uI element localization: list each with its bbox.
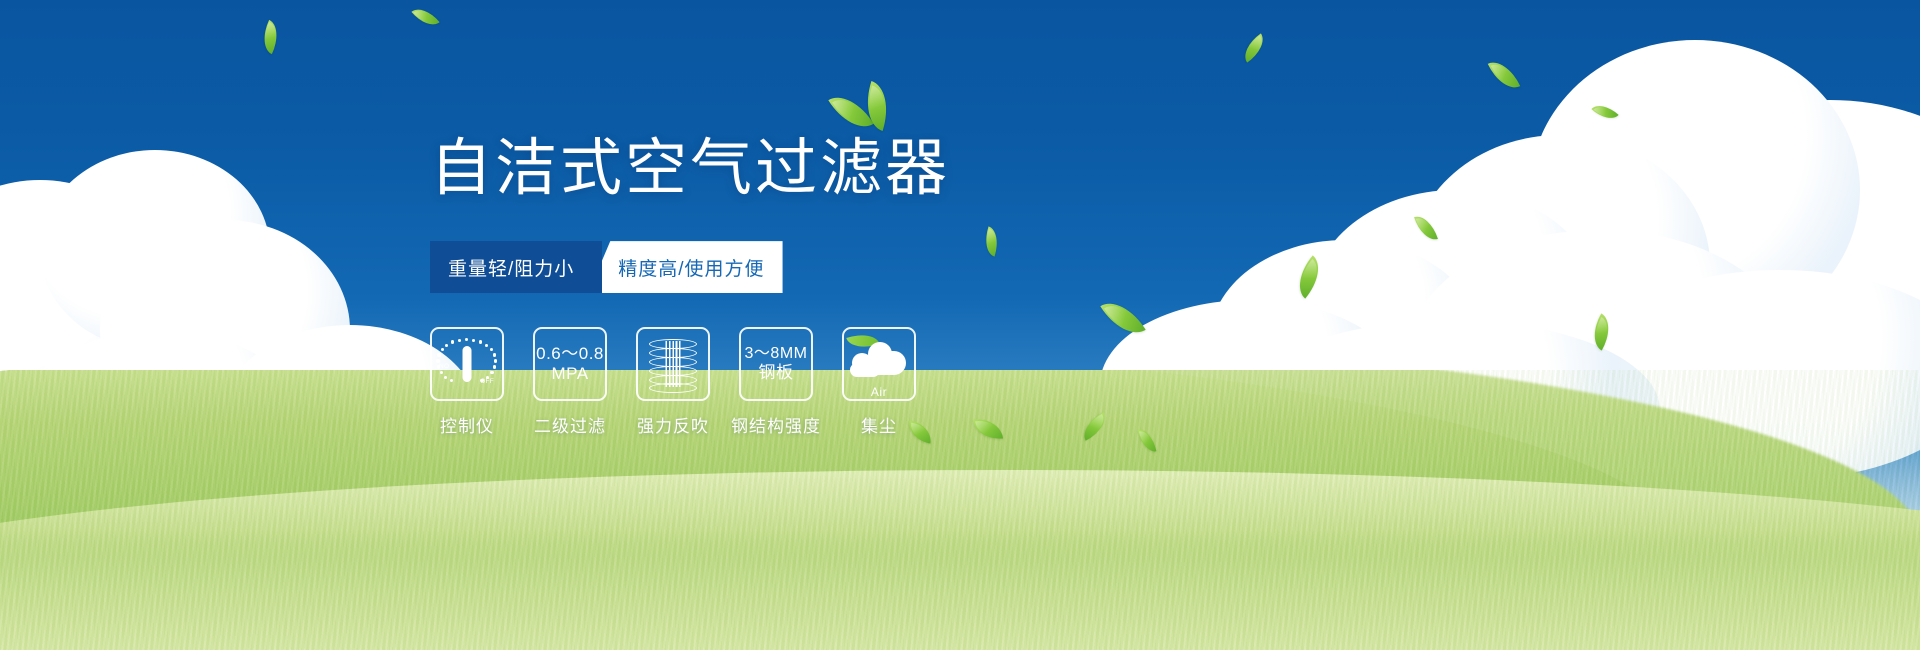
feature-item-dust: Air 集尘 — [842, 327, 916, 437]
feature-label: 二级过滤 — [534, 412, 606, 437]
air-label: Air — [850, 385, 908, 399]
page-title: 自洁式空气过滤器 — [430, 138, 1150, 200]
feature-label: 集尘 — [861, 412, 897, 437]
tagline-badge-secondary-text: 精度高/使用方便 — [618, 254, 764, 281]
feature-list: NO OFF 控制仪 0.6～0.8 MPA 二级过滤 — [430, 327, 1150, 437]
feature-icon-box: 0.6～0.8 MPA — [533, 327, 607, 401]
tagline-badge-primary-text: 重量轻/阻力小 — [448, 254, 574, 281]
feature-label: 控制仪 — [440, 412, 494, 437]
tagline-badge-secondary: 精度高/使用方便 — [588, 241, 782, 293]
banner-content: 自洁式空气过滤器 重量轻/阻力小 精度高/使用方便 — [430, 96, 1150, 437]
feature-icon-box: 3～8MM 钢板 — [739, 327, 813, 401]
air-cloud-icon: Air — [850, 339, 908, 389]
feature-label: 钢结构强度 — [731, 412, 821, 437]
feature-item-backblow: 强力反吹 — [636, 327, 710, 437]
tagline-badge-primary: 重量轻/阻力小 — [430, 241, 602, 293]
feature-icon-box — [636, 327, 710, 401]
feature-item-pressure: 0.6～0.8 MPA 二级过滤 — [533, 327, 607, 437]
pressure-unit-text: MPA — [551, 364, 588, 384]
gauge-off-label: OFF — [480, 378, 494, 385]
feature-item-controller: NO OFF 控制仪 — [430, 327, 504, 437]
tagline-badges: 重量轻/阻力小 精度高/使用方便 — [430, 241, 820, 293]
gauge-icon: NO OFF — [438, 338, 496, 390]
feature-label: 强力反吹 — [637, 412, 709, 437]
gauge-on-label: NO — [439, 363, 449, 370]
steel-thickness-text: 3～8MM — [745, 345, 808, 364]
grass-foreground — [0, 530, 1920, 650]
steel-plate-text: 钢板 — [759, 363, 794, 383]
feature-icon-box: NO OFF — [430, 327, 504, 401]
hero-banner: 自洁式空气过滤器 重量轻/阻力小 精度高/使用方便 — [0, 0, 1920, 650]
pressure-range-text: 0.6～0.8 — [536, 344, 604, 364]
feature-icon-box: Air — [842, 327, 916, 401]
filter-cartridge-icon — [648, 337, 698, 391]
feature-item-steel: 3～8MM 钢板 钢结构强度 — [739, 327, 813, 437]
